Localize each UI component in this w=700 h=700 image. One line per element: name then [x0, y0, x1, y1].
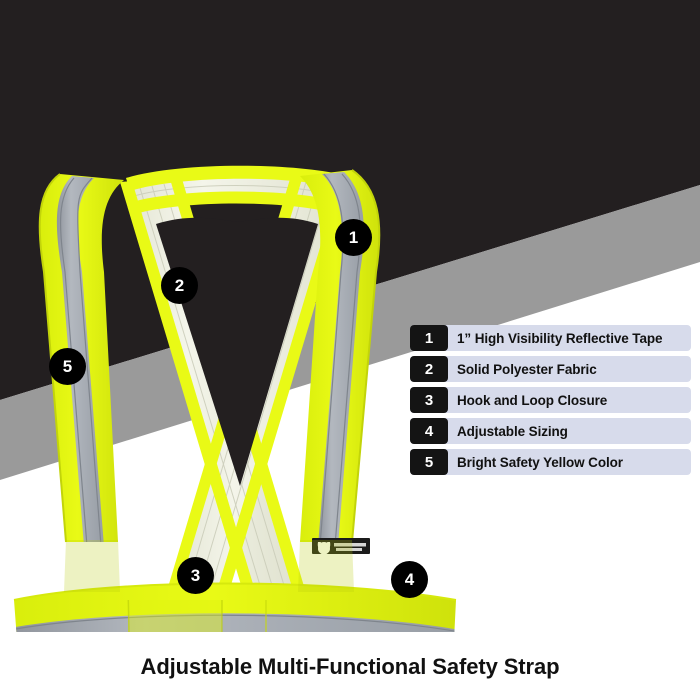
- callout-badge-1-number: 1: [349, 228, 358, 248]
- feature-row-background: Solid Polyester Fabric: [410, 356, 691, 382]
- callout-badge-4[interactable]: 4: [391, 561, 428, 598]
- header-bar: [0, 0, 700, 72]
- feature-label: Solid Polyester Fabric: [457, 362, 597, 377]
- feature-row-background: Adjustable Sizing: [410, 418, 691, 444]
- callout-badge-5[interactable]: 5: [49, 348, 86, 385]
- feature-row-background: 1” High Visibility Reflective Tape: [410, 325, 691, 351]
- callout-badge-1[interactable]: 1: [335, 219, 372, 256]
- callout-badge-3[interactable]: 3: [177, 557, 214, 594]
- feature-number-badge: 1: [410, 325, 448, 351]
- feature-row[interactable]: Solid Polyester Fabric 2: [410, 356, 691, 382]
- feature-row[interactable]: Hook and Loop Closure 3: [410, 387, 691, 413]
- callout-badge-3-number: 3: [191, 566, 200, 586]
- callout-badge-2-number: 2: [175, 276, 184, 296]
- callout-badge-4-number: 4: [405, 570, 414, 590]
- feature-row[interactable]: Bright Safety Yellow Color 5: [410, 449, 691, 475]
- callout-badge-2[interactable]: 2: [161, 267, 198, 304]
- feature-label: Adjustable Sizing: [457, 424, 568, 439]
- product-feature-infographic: SAFETY STRAP FEATURES NORTHMON SAFETY: [0, 0, 700, 700]
- feature-label: 1” High Visibility Reflective Tape: [457, 331, 662, 346]
- feature-number-badge: 4: [410, 418, 448, 444]
- feature-row-background: Bright Safety Yellow Color: [410, 449, 691, 475]
- feature-row[interactable]: Adjustable Sizing 4: [410, 418, 691, 444]
- feature-label: Bright Safety Yellow Color: [457, 455, 623, 470]
- feature-number-badge: 3: [410, 387, 448, 413]
- feature-list: 1” High Visibility Reflective Tape 1 Sol…: [410, 325, 691, 480]
- feature-number-badge: 2: [410, 356, 448, 382]
- feature-row-background: Hook and Loop Closure: [410, 387, 691, 413]
- feature-number-badge: 5: [410, 449, 448, 475]
- feature-label: Hook and Loop Closure: [457, 393, 607, 408]
- feature-row[interactable]: 1” High Visibility Reflective Tape 1: [410, 325, 691, 351]
- footer-caption: Adjustable Multi-Functional Safety Strap: [0, 654, 700, 680]
- callout-badge-5-number: 5: [63, 357, 72, 377]
